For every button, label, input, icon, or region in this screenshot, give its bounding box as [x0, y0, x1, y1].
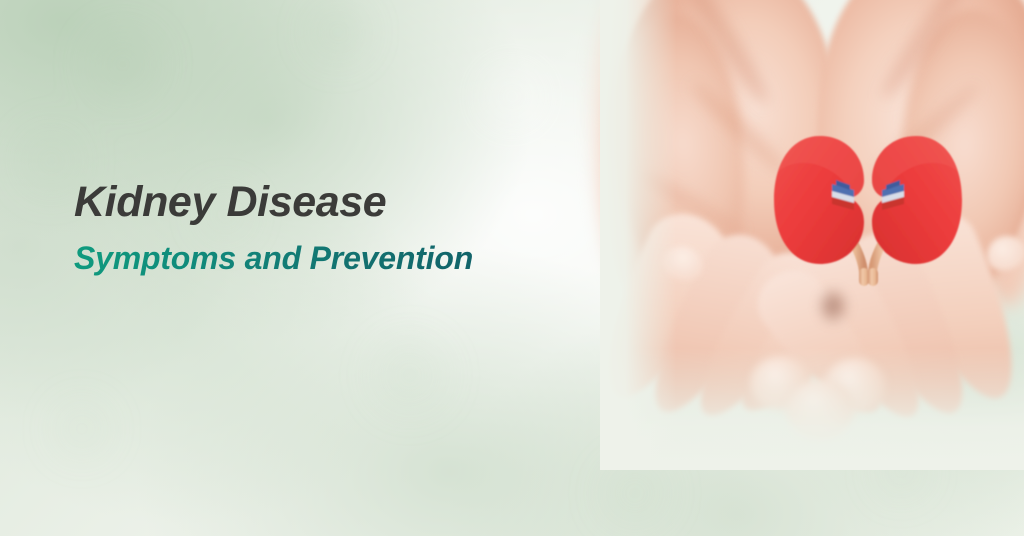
kidney-disease-health-banner: Kidney Disease Symptoms and Prevention [0, 0, 1024, 536]
page-title: Kidney Disease [74, 178, 473, 226]
ureter-tip [859, 268, 869, 286]
ureter-tip [868, 268, 878, 286]
page-subtitle: Symptoms and Prevention [74, 240, 473, 276]
kidney-pair-illustration [770, 128, 966, 296]
fingertip [786, 380, 854, 440]
headline-text-block: Kidney Disease Symptoms and Prevention [74, 178, 473, 276]
